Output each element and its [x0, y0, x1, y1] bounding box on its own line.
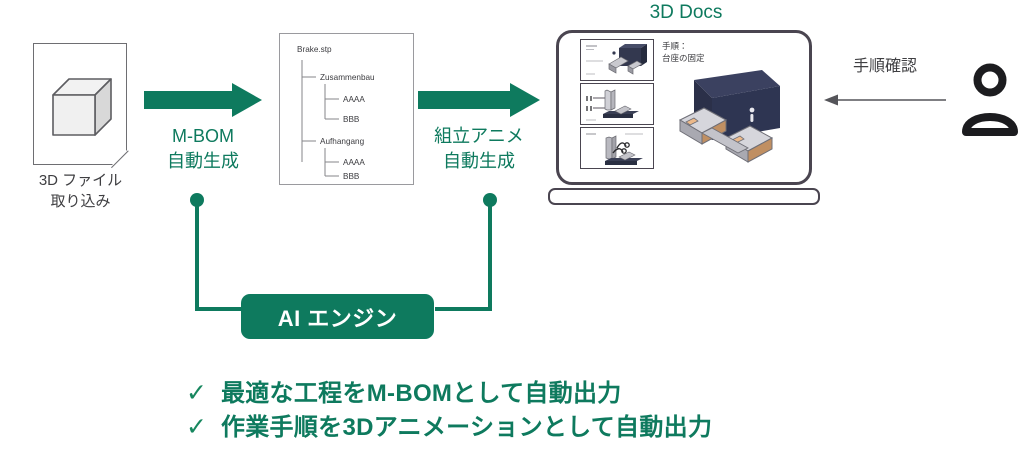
bom-child-label: BBB	[343, 115, 360, 124]
list-item: ✓ 最適な工程をM-BOMとして自動出力	[186, 380, 866, 408]
diagram-canvas: 3D ファイル 取り込み M-BOM 自動生成 Brake.stp Zusamm…	[0, 0, 1024, 473]
check-icon: ✓	[186, 415, 207, 440]
bom-tree-box: Brake.stp Zusammenbau AAAA BBB Aufhangan…	[279, 33, 414, 185]
laptop-mockup: 手順： 台座の固定	[556, 30, 812, 185]
connector-dot-right	[483, 193, 497, 207]
bom-node-label: Zusammenbau	[320, 73, 375, 82]
input-label: 3D ファイル 取り込み	[3, 170, 158, 212]
right-arrow-icon	[418, 83, 540, 117]
left-arrow-icon	[824, 92, 946, 108]
person-icon	[962, 62, 1018, 138]
cube-illustration	[33, 43, 127, 165]
ai-engine-box[interactable]: AI エンジン	[241, 294, 434, 339]
page-title: 3D Docs	[561, 2, 811, 24]
thumbnail-step-1[interactable]	[580, 39, 654, 81]
feature-bullet-list: ✓ 最適な工程をM-BOMとして自動出力 ✓ 作業手順を3Dアニメーションとして…	[186, 380, 866, 447]
bom-node-label: Aufhangang	[320, 137, 365, 146]
bom-child-label: AAAA	[343, 158, 365, 167]
bom-child-label: AAAA	[343, 95, 365, 104]
bullet-text: 作業手順を3Dアニメーションとして自動出力	[221, 414, 712, 442]
thumbnail-step-3[interactable]	[580, 127, 654, 169]
check-icon: ✓	[186, 381, 207, 406]
bom-tree-graphic: Brake.stp Zusammenbau AAAA BBB Aufhangan…	[280, 34, 415, 186]
bullet-text: 最適な工程をM-BOMとして自動出力	[221, 380, 622, 408]
bracket-assembly-3d-model	[664, 58, 804, 173]
laptop-base	[548, 188, 820, 205]
bom-child-label: BBB	[343, 172, 360, 181]
thumbnail-step-2[interactable]	[580, 83, 654, 125]
feedback-label: 手順確認	[820, 52, 950, 76]
right-arrow-icon	[144, 83, 262, 117]
bom-root-label: Brake.stp	[297, 45, 332, 54]
arrow1-label: M-BOM 自動生成	[133, 124, 273, 174]
3d-file-document-icon	[33, 43, 127, 165]
connector-dot-left	[190, 193, 204, 207]
arrow2-label: 組立アニメ 自動生成	[409, 124, 549, 174]
ai-engine-label: AI エンジン	[278, 301, 398, 333]
list-item: ✓ 作業手順を3Dアニメーションとして自動出力	[186, 414, 866, 442]
